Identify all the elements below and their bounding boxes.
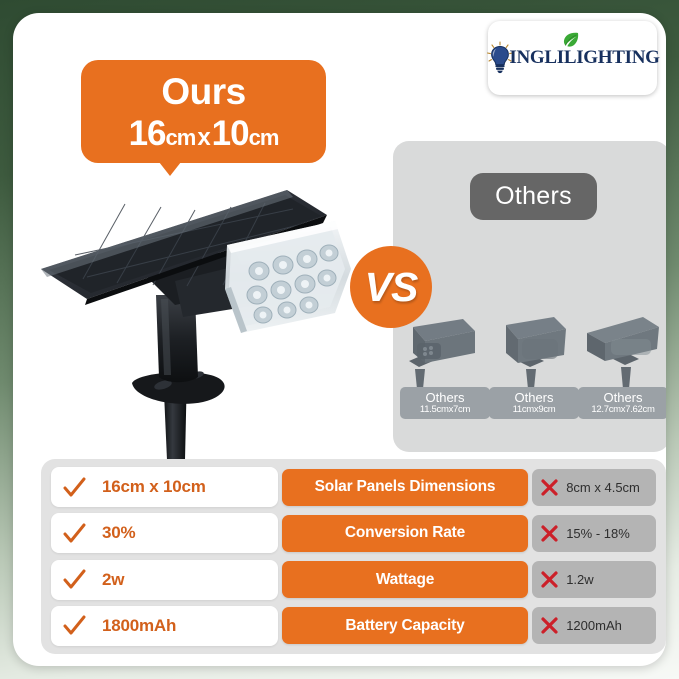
ours-title: Ours: [81, 60, 326, 110]
ours-cell: 1800mAh: [51, 606, 278, 646]
x-icon: [540, 524, 559, 543]
brand-logo: INGLILIGHTING: [488, 21, 657, 95]
ours-height-value: 10: [212, 114, 249, 153]
ours-value: 30%: [102, 523, 135, 543]
other-value: 8cm x 4.5cm: [566, 480, 640, 495]
table-row: 2w Wattage 1.2w: [51, 560, 656, 600]
competitor-label: Others 11.5cmx7cm: [400, 387, 490, 419]
competitor-label: Others 11cmx9cm: [489, 387, 579, 419]
brand-name: INGLILIGHTING: [509, 47, 659, 69]
feature-label: Solar Panels Dimensions: [282, 469, 528, 506]
competitor-name: Others: [514, 391, 553, 405]
check-icon: [63, 476, 86, 499]
ours-value: 1800mAh: [102, 616, 176, 636]
ours-callout-bubble: Ours 16cmx10cm: [81, 60, 326, 163]
competitor-name: Others: [603, 391, 642, 405]
feature-label: Conversion Rate: [282, 515, 528, 552]
check-icon: [63, 614, 86, 637]
other-cell: 15% - 18%: [532, 515, 656, 552]
ours-value: 16cm x 10cm: [102, 477, 206, 497]
competitor-size: 11.5cmx7cm: [420, 405, 470, 415]
comparison-table: 16cm x 10cm Solar Panels Dimensions 8cm …: [41, 459, 666, 654]
competitor-list: Others 11.5cmx7cm Others 11cmx9cm: [403, 309, 665, 437]
competitor-label: Others 12.7cmx7.62cm: [578, 387, 666, 419]
ours-cell: 30%: [51, 513, 278, 553]
feature-label: Wattage: [282, 561, 528, 598]
ours-dimensions: 16cmx10cm: [81, 110, 326, 151]
infographic-card: INGLILIGHTING Ours 16cmx10cm: [13, 13, 666, 666]
competitor-item: Others 11cmx9cm: [492, 309, 576, 437]
others-title-pill: Others: [470, 173, 597, 220]
ours-product-image: [35, 185, 355, 460]
competitor-item: Others 11.5cmx7cm: [403, 309, 487, 437]
competitor-item: Others 12.7cmx7.62cm: [581, 309, 665, 437]
other-cell: 1200mAh: [532, 607, 656, 644]
ours-value: 2w: [102, 570, 124, 590]
competitor-light-icon: [403, 309, 487, 389]
competitor-light-icon: [581, 309, 665, 389]
table-row: 1800mAh Battery Capacity 1200mAh: [51, 606, 656, 646]
ours-height-unit: cm: [249, 125, 279, 150]
other-value: 1.2w: [566, 572, 593, 587]
ours-width-unit: cm: [166, 125, 196, 150]
ours-cell: 2w: [51, 560, 278, 600]
table-row: 16cm x 10cm Solar Panels Dimensions 8cm …: [51, 467, 656, 507]
table-row: 30% Conversion Rate 15% - 18%: [51, 513, 656, 553]
ours-width-value: 16: [129, 114, 166, 153]
other-cell: 1.2w: [532, 561, 656, 598]
x-icon: [540, 570, 559, 589]
x-icon: [540, 478, 559, 497]
x-icon: [540, 616, 559, 635]
competitor-size: 12.7cmx7.62cm: [591, 405, 654, 415]
competitor-light-icon: [492, 309, 576, 389]
other-value: 15% - 18%: [566, 526, 630, 541]
ours-dimension-separator: x: [195, 124, 211, 151]
competitor-size: 11cmx9cm: [513, 405, 556, 415]
feature-label: Battery Capacity: [282, 607, 528, 644]
other-cell: 8cm x 4.5cm: [532, 469, 656, 506]
competitor-name: Others: [425, 391, 464, 405]
leaf-icon: [559, 32, 579, 48]
check-icon: [63, 522, 86, 545]
ours-cell: 16cm x 10cm: [51, 467, 278, 507]
check-icon: [63, 568, 86, 591]
other-value: 1200mAh: [566, 618, 622, 633]
versus-badge: VS: [350, 246, 432, 328]
